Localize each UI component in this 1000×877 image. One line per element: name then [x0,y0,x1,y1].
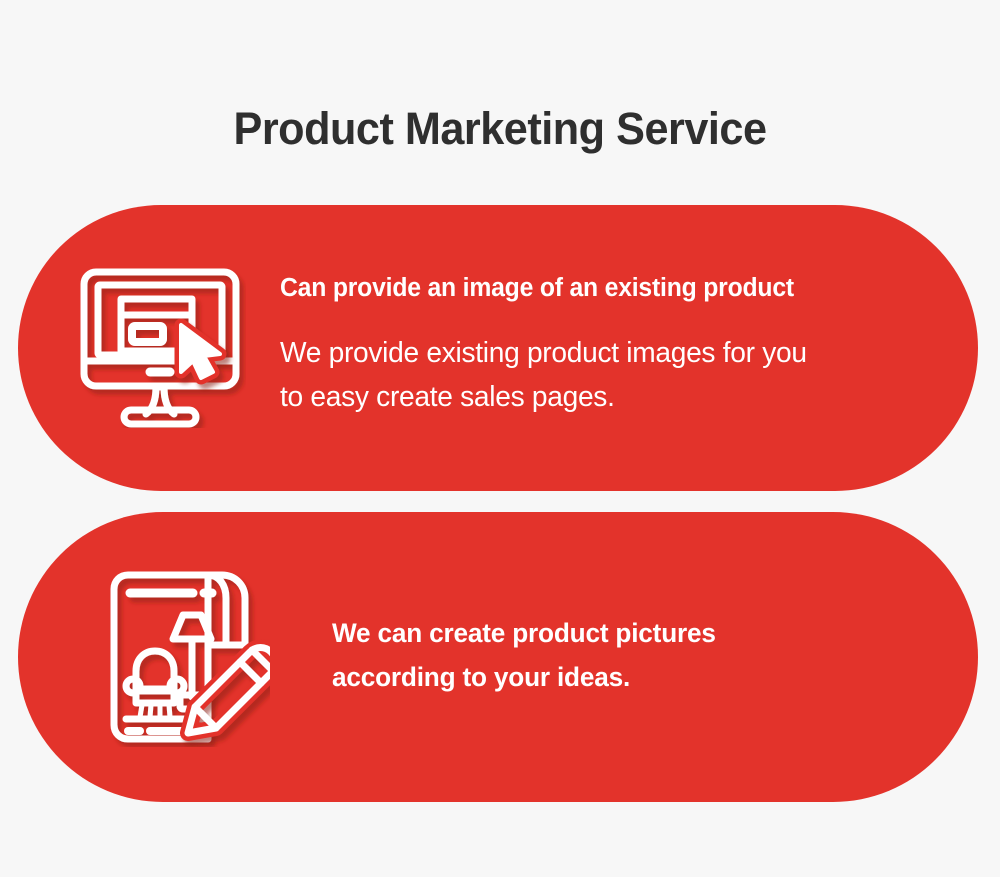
marketing-service-page: Product Marketing Service [0,0,1000,877]
page-title: Product Marketing Service [20,102,980,156]
monitor-screen-cursor-icon [80,268,246,428]
card-heading-line-2: according to your ideas. [332,662,630,692]
card-text-block: We can create product pictures according… [270,612,978,701]
card-heading-line-1: We can create product pictures [332,618,716,648]
service-card-custom-pictures[interactable]: We can create product pictures according… [18,512,978,802]
service-card-existing-product[interactable]: Can provide an image of an existing prod… [18,205,978,491]
card-body-text: We provide existing product images for y… [280,331,911,419]
card-body-line-1: We provide existing product images for y… [280,337,807,369]
card-heading: Can provide an image of an existing prod… [280,273,957,305]
card-body-line-2: to easy create sales pages. [280,381,615,413]
design-sketch-pencil-icon [100,567,270,747]
card-heading: We can create product pictures according… [332,612,875,699]
card-text-block: Can provide an image of an existing prod… [246,273,978,423]
